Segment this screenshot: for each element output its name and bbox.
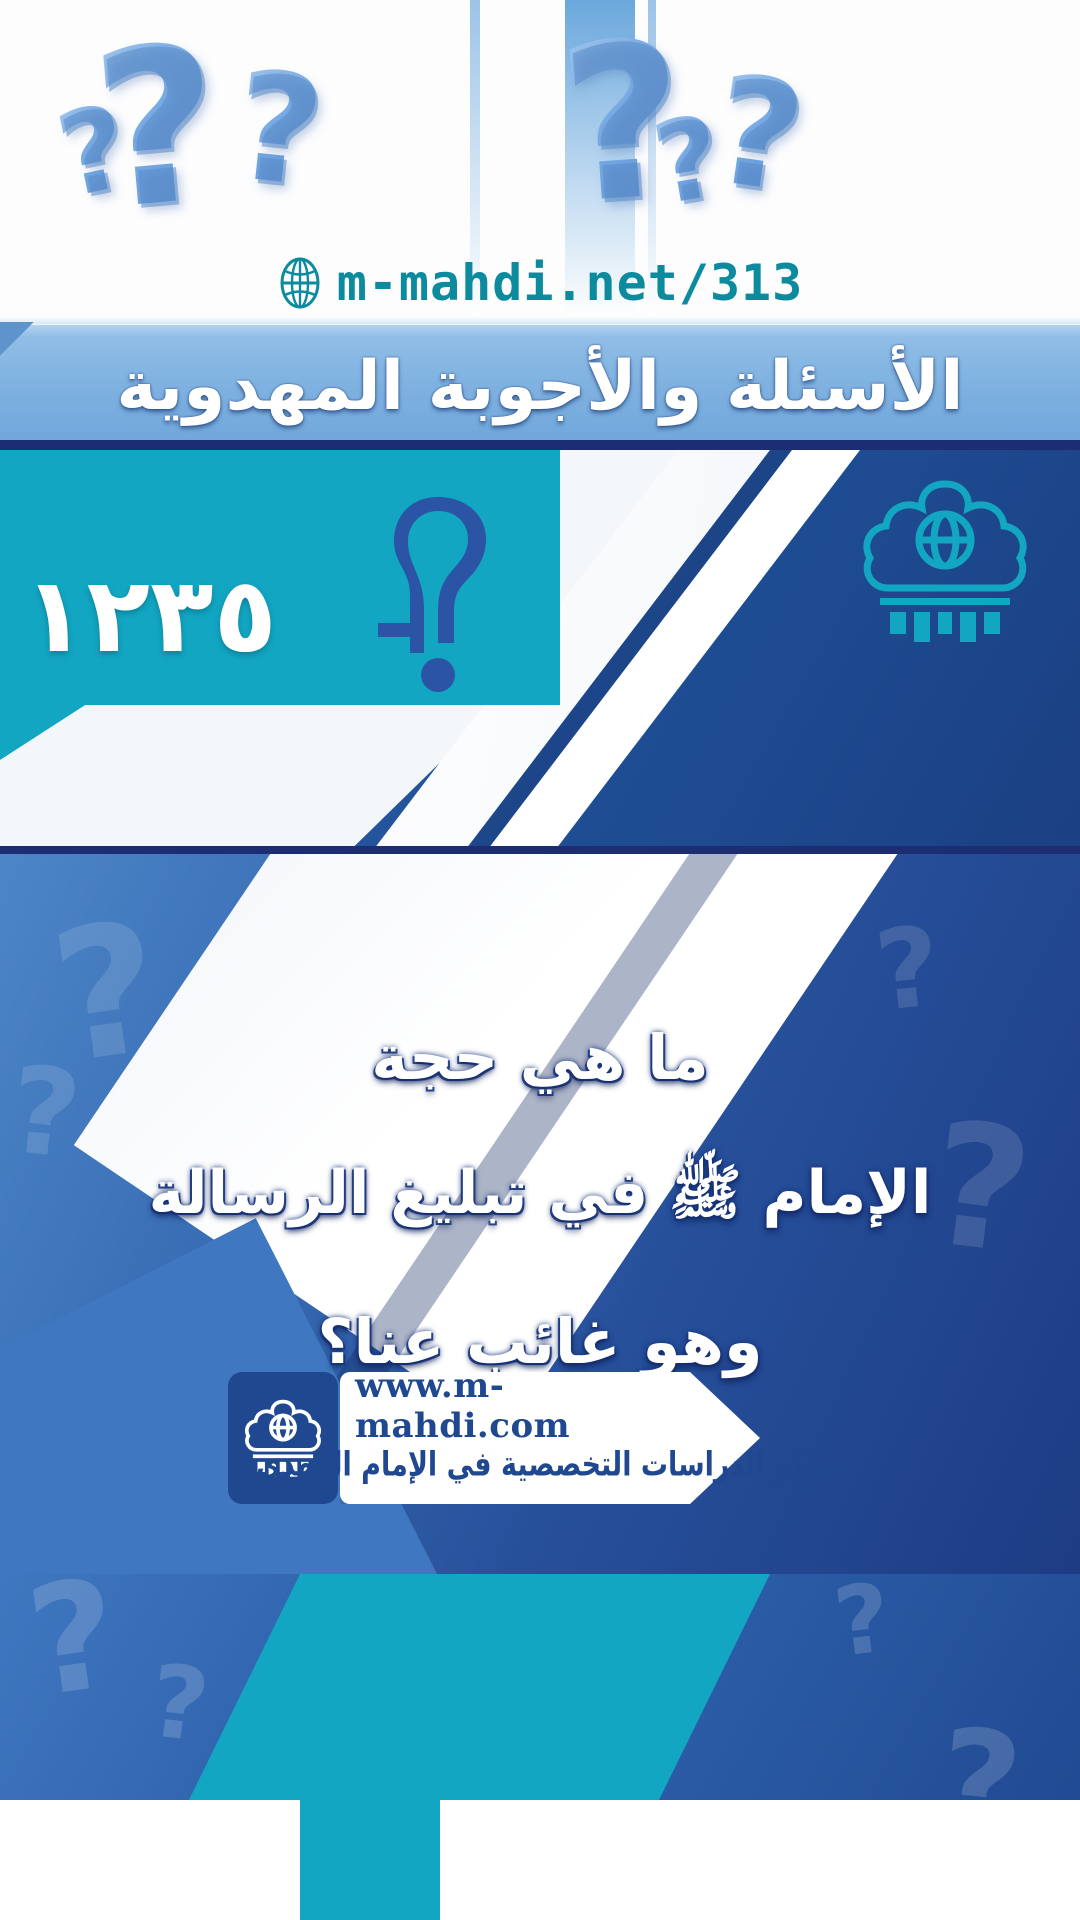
banner-title: الأسئلة والأجوبة المهدوية — [0, 332, 1080, 440]
question-head-icon — [370, 495, 510, 695]
mid-bottom-rule — [0, 846, 1080, 854]
question-mark-icon: ? — [829, 1574, 895, 1672]
question-line-2: الإمام ﷺ في تبليغ الرسالة — [149, 1156, 932, 1243]
poster-root: ? ? ? ? ? ? m-mahdi.net/313 الأسئلة والأ… — [0, 0, 1080, 1920]
question-line-1: ما هي حجة — [371, 1021, 709, 1094]
globe-icon — [277, 257, 323, 309]
center-emblem-icon — [850, 470, 1040, 655]
footer-band: ? ? ? ? — [0, 1574, 1080, 1920]
footer-white-left — [0, 1800, 300, 1920]
question-number-badge: ١٢٣٥ — [0, 540, 300, 690]
site-url-text: m-mahdi.net/313 — [337, 254, 804, 312]
question-number: ١٢٣٥ — [23, 554, 277, 676]
footer-calligraphy: مركز الدراسات التخصصية في الإمام المهدي — [348, 1419, 748, 1509]
site-url-row: m-mahdi.net/313 — [0, 250, 1080, 316]
title-banner: الأسئلة والأجوبة المهدوية — [0, 322, 1080, 450]
footer-white-right — [440, 1800, 1080, 1920]
question-mark-icon: ? — [227, 51, 329, 209]
footer-logo-badge[interactable] — [228, 1372, 338, 1504]
question-mark-icon: ? — [144, 1651, 214, 1757]
